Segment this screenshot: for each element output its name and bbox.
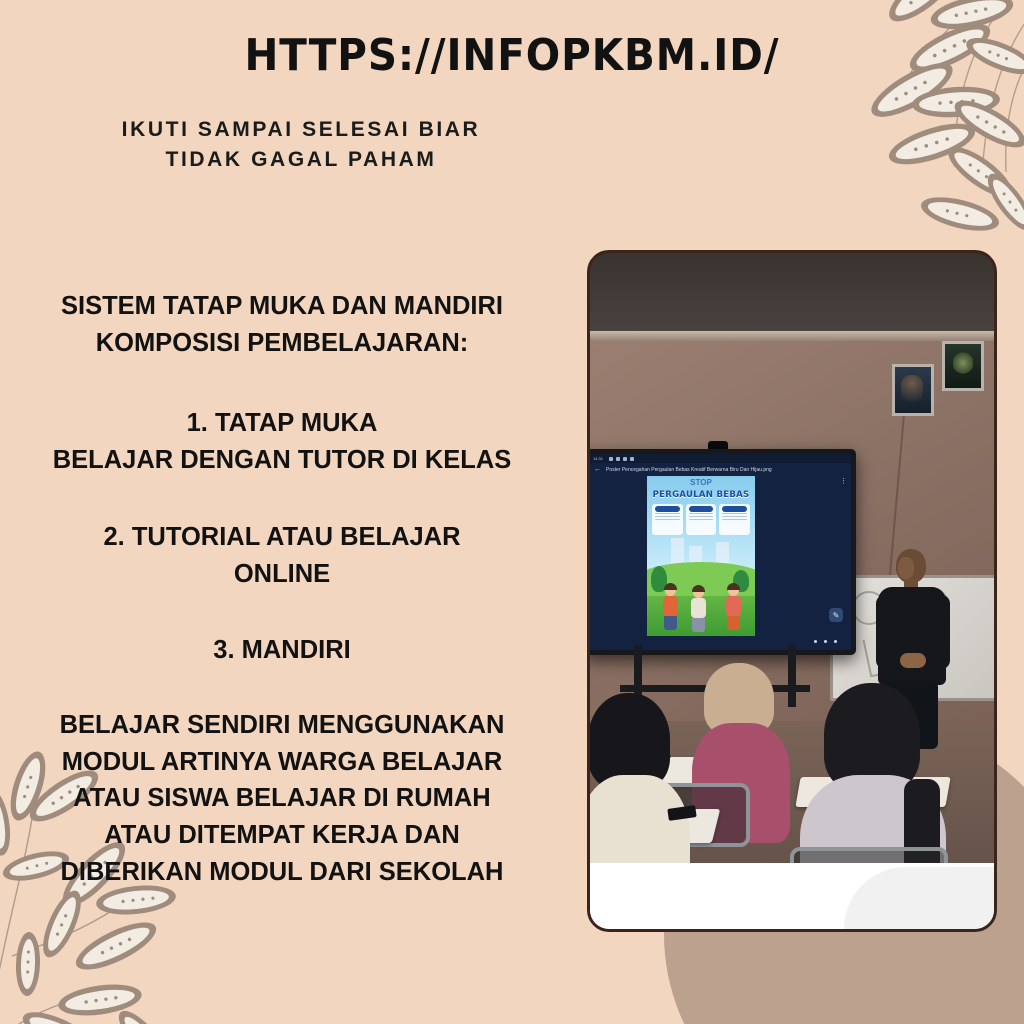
body-item-1: 1. TATAP MUKA BELAJAR DENGAN TUTOR DI KE… xyxy=(18,405,546,478)
arrow-left-icon[interactable]: ← xyxy=(594,466,601,473)
framed-portrait-picture xyxy=(892,364,934,416)
classroom-photo: 14.31 ← Poster Pencegahan Pergaulan Beba… xyxy=(590,253,994,929)
nav-dot[interactable] xyxy=(824,640,827,643)
interactive-display-tv[interactable]: 14.31 ← Poster Pencegahan Pergaulan Beba… xyxy=(590,449,856,655)
body-item-3-detail-line-5: DIBERIKAN MODUL DARI SEKOLAH xyxy=(18,854,546,891)
body-item-3-detail-line-3: ATAU SISWA BELAJAR DI RUMAH xyxy=(18,780,546,817)
status-icon xyxy=(630,457,634,461)
body-heading-line-2: KOMPOSISI PEMBELAJARAN: xyxy=(18,325,546,362)
poster-info-card xyxy=(719,504,750,535)
poster-child-figure xyxy=(691,587,706,632)
tv-screen[interactable]: 14.31 ← Poster Pencegahan Pergaulan Beba… xyxy=(590,454,851,650)
tv-nav-dots[interactable] xyxy=(814,640,837,643)
poster-info-card xyxy=(686,504,717,535)
status-icon xyxy=(609,457,613,461)
poster-child-figure xyxy=(726,585,741,630)
body-item-1-line-1: 1. TATAP MUKA xyxy=(18,405,546,442)
body-item-1-line-2: BELAJAR DENGAN TUTOR DI KELAS xyxy=(18,442,546,479)
body-item-2-line-2: ONLINE xyxy=(18,556,546,593)
body-item-3-detail-line-2: MODUL ARTINYA WARGA BELAJAR xyxy=(18,744,546,781)
nav-dot[interactable] xyxy=(814,640,817,643)
poster-info-card xyxy=(652,504,683,535)
body-copy: SISTEM TATAP MUKA DAN MANDIRI KOMPOSISI … xyxy=(18,288,546,891)
body-heading-line-1: SISTEM TATAP MUKA DAN MANDIRI xyxy=(18,288,546,325)
body-item-3-detail-line-4: ATAU DITEMPAT KERJA DAN xyxy=(18,817,546,854)
body-item-2: 2. TUTORIAL ATAU BELAJAR ONLINE xyxy=(18,519,546,592)
status-icon xyxy=(616,457,620,461)
tv-status-bar: 14.31 xyxy=(590,454,851,463)
poster-canvas: HTTPS://INFOPKBM.ID/ IKUTI SAMPAI SELESA… xyxy=(0,0,1024,1024)
pencil-icon[interactable]: ✎ xyxy=(829,608,843,622)
poster-title-top: STOP xyxy=(647,478,755,487)
tv-file-bar: ← Poster Pencegahan Pergaulan Bebas Krea… xyxy=(590,463,851,476)
nav-dot[interactable] xyxy=(834,640,837,643)
body-heading: SISTEM TATAP MUKA DAN MANDIRI KOMPOSISI … xyxy=(18,288,546,361)
classroom-photo-card: 14.31 ← Poster Pencegahan Pergaulan Beba… xyxy=(587,250,997,932)
body-item-3-detail: BELAJAR SENDIRI MENGGUNAKAN MODUL ARTINY… xyxy=(18,707,546,891)
poster-info-cards xyxy=(652,504,750,535)
poster-card-header xyxy=(689,506,714,512)
subheadline: IKUTI SAMPAI SELESAI BIAR TIDAK GAGAL PA… xyxy=(86,115,516,176)
tv-file-label: Poster Pencegahan Pergaulan Bebas Kreati… xyxy=(606,467,772,473)
poster-title: PERGAULAN BEBAS xyxy=(647,490,755,500)
displayed-poster-image: STOP PERGAULAN BEBAS xyxy=(647,476,755,636)
body-item-2-line-1: 2. TUTORIAL ATAU BELAJAR xyxy=(18,519,546,556)
body-item-3-line-1: 3. MANDIRI xyxy=(18,632,546,669)
status-icon xyxy=(623,457,627,461)
poster-card-header xyxy=(655,506,680,512)
subheadline-line-1: IKUTI SAMPAI SELESAI BIAR xyxy=(86,115,516,145)
page-title: HTTPS://INFOPKBM.ID/ xyxy=(41,34,983,78)
poster-card-header xyxy=(722,506,747,512)
poster-child-figure xyxy=(663,585,678,630)
photo-bottom-white-band xyxy=(590,863,994,929)
body-item-3: 3. MANDIRI xyxy=(18,632,546,669)
framed-garuda-emblem-picture xyxy=(942,341,984,391)
tv-clock: 14.31 xyxy=(593,456,603,461)
more-vertical-icon[interactable]: ⋮ xyxy=(840,478,847,485)
body-item-3-detail-line-1: BELAJAR SENDIRI MENGGUNAKAN xyxy=(18,707,546,744)
ceiling xyxy=(590,253,994,337)
subheadline-line-2: TIDAK GAGAL PAHAM xyxy=(86,145,516,175)
